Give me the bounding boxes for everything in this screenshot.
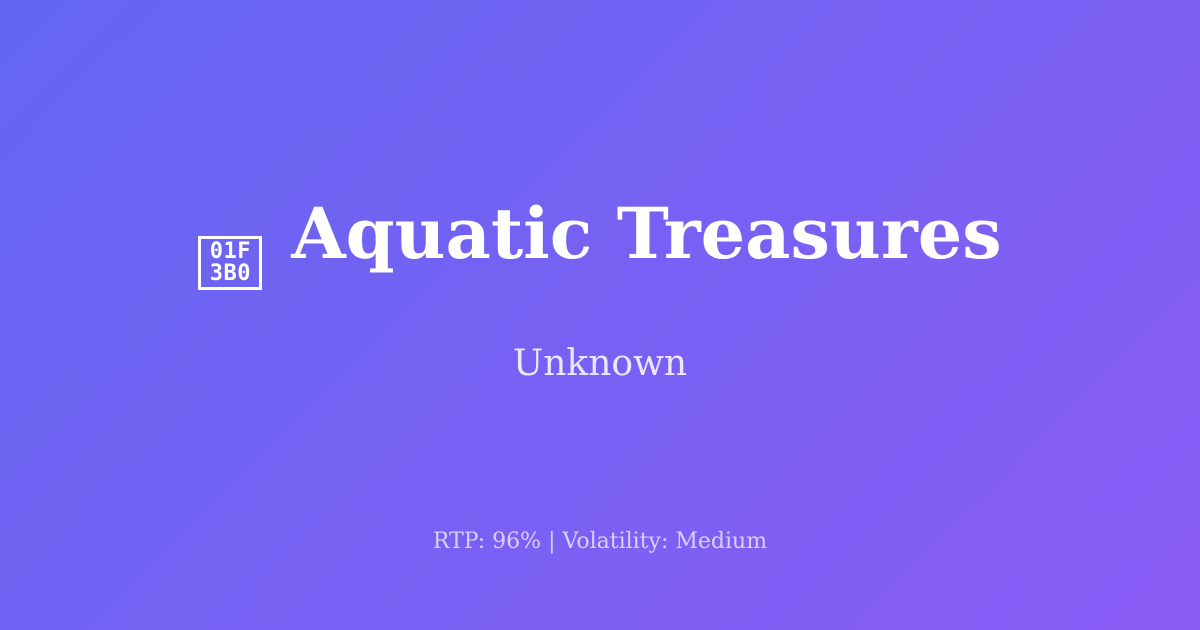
page-title: Aquatic Treasures [291,199,1001,269]
slot-machine-icon: 01F 3B0 [198,236,262,290]
tofu-hex-top: 01F [210,241,251,263]
og-card: { "card": { "background": { "gradient_fr… [0,0,1200,630]
hero-block: 01F 3B0 Aquatic Treasures Unknown [0,199,1200,385]
provider-subtitle: Unknown [513,342,687,385]
tofu-hex-bottom: 3B0 [210,263,251,285]
game-stats-line: RTP: 96% | Volatility: Medium [0,529,1200,555]
title-row: 01F 3B0 Aquatic Treasures [0,199,1200,290]
